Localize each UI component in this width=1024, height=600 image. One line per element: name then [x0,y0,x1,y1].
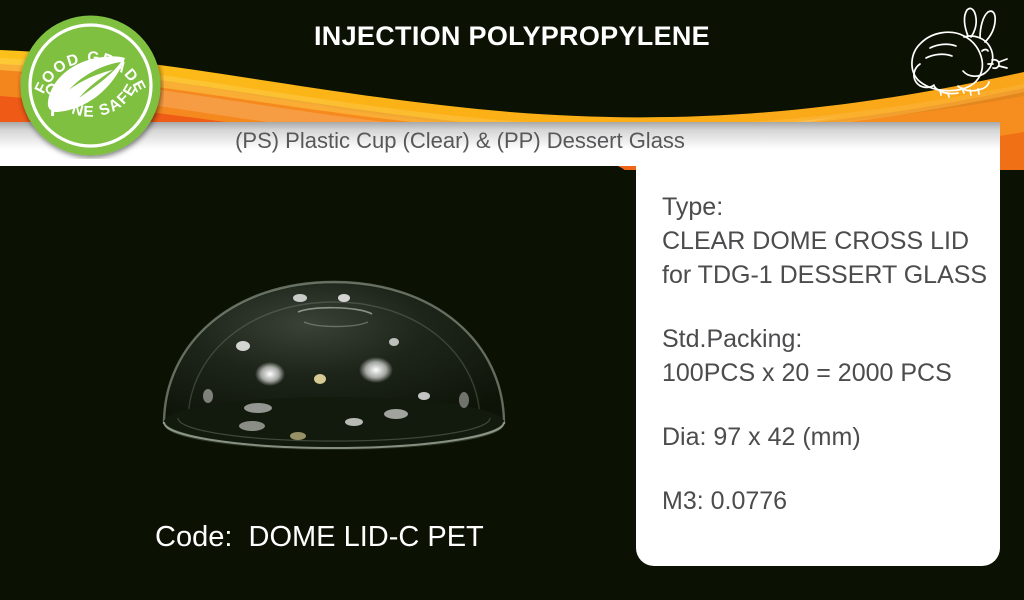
code-value: DOME LID-C PET [249,521,484,553]
spec-packing-value: 100PCS x 20 = 2000 PCS [662,356,1000,390]
spec-packing-label: Std.Packing: [662,322,1000,356]
specification-panel: Type: CLEAR DOME CROSS LID for TDG-1 DES… [636,166,1000,566]
spec-type-value-line2: for TDG-1 DESSERT GLASS [662,258,1000,292]
code-label: Code: [155,521,232,553]
food-grade-badge: FOOD GRADE OZONE SAFE [17,12,164,159]
rabbit-icon [900,4,1012,108]
clear-dome-lid-photo [148,246,520,476]
spec-m3: M3: 0.0776 [662,484,1000,518]
product-spec-card: (PS) Plastic Cup (Clear) & (PP) Dessert … [0,0,1024,600]
spacer [662,454,1000,484]
spec-diameter: Dia: 97 x 42 (mm) [662,420,1000,454]
spec-type-label: Type: [662,190,1000,224]
spec-type-value-line1: CLEAR DOME CROSS LID [662,224,1000,258]
spacer [662,292,1000,322]
spacer [662,390,1000,420]
product-code: Code: DOME LID-C PET [155,521,484,554]
